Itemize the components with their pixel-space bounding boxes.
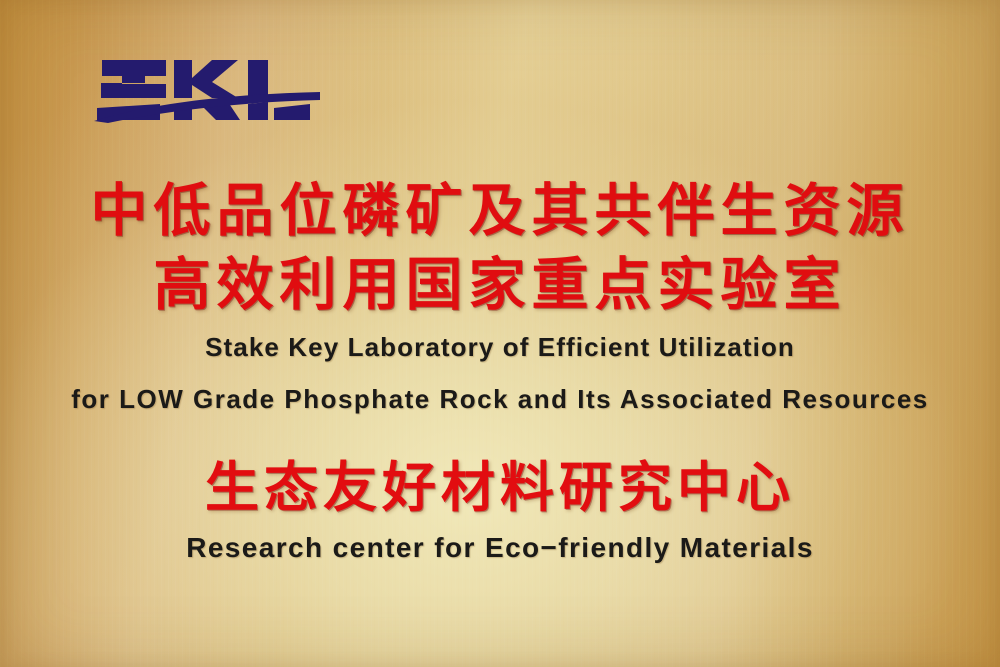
lab-name-cn-line-1: 中低品位磷矿及其共伴生资源 [0, 183, 1000, 240]
center-name-en: Research center for Eco−friendly Materia… [0, 534, 1000, 562]
skl-logo [88, 42, 328, 138]
lab-name-en-line-1: Stake Key Laboratory of Efficient Utiliz… [0, 334, 1000, 360]
center-name-cn: 生态友好材料研究中心 [0, 461, 1000, 515]
lab-name-en-line-2: for LOW Grade Phosphate Rock and Its Ass… [0, 386, 1000, 412]
skl-wordmark-icon [88, 42, 328, 138]
laboratory-name-plaque: 中低品位磷矿及其共伴生资源 高效利用国家重点实验室 Stake Key Labo… [0, 0, 1000, 667]
lab-name-cn-line-2: 高效利用国家重点实验室 [0, 257, 1000, 314]
